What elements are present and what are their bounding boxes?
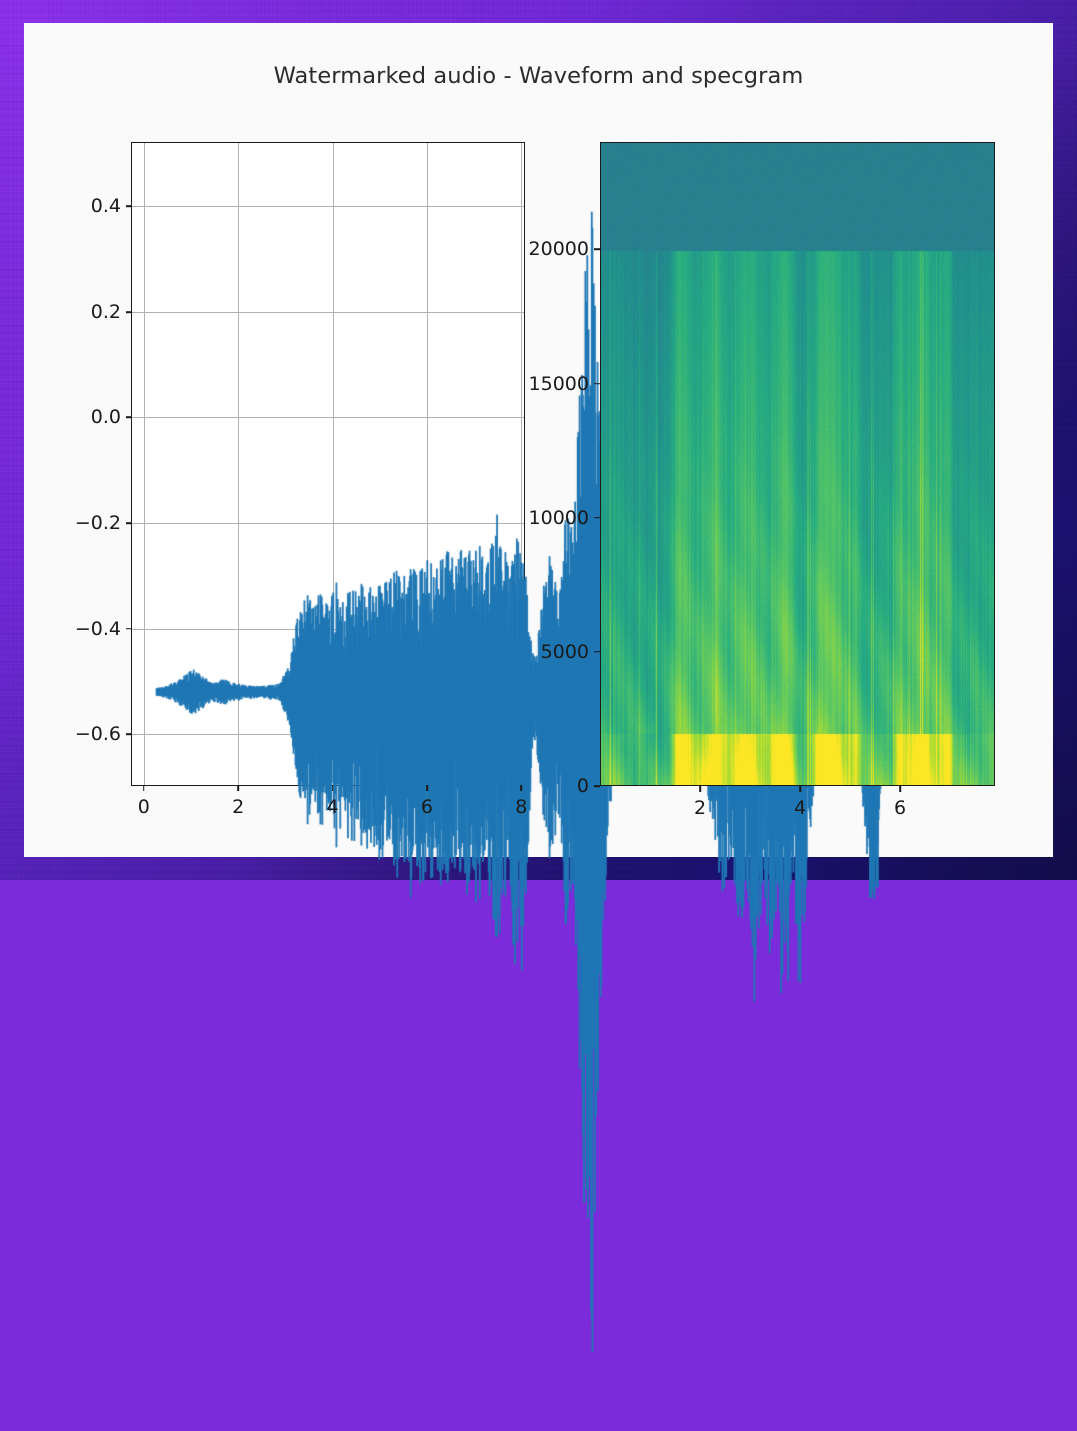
specgram-x-tick-mark xyxy=(699,786,701,792)
specgram-x-axis: 246 xyxy=(600,142,995,786)
specgram-x-tick-label: 2 xyxy=(694,797,706,819)
x-tick-label: 6 xyxy=(421,796,433,818)
y-tick-mark xyxy=(126,522,132,524)
specgram-y-tick-label: 0 xyxy=(577,775,589,797)
x-tick-label: 4 xyxy=(326,796,338,818)
y-tick-label: −0.4 xyxy=(75,618,121,640)
specgram-x-tick-mark xyxy=(799,786,801,792)
x-tick-label: 0 xyxy=(138,796,150,818)
specgram-y-tick-label: 10000 xyxy=(529,507,589,529)
x-tick-label: 2 xyxy=(232,796,244,818)
y-tick-mark xyxy=(126,206,132,208)
x-tick-mark xyxy=(332,785,334,791)
y-tick-label: −0.6 xyxy=(75,723,121,745)
y-tick-mark xyxy=(126,733,132,735)
specgram-y-tick-label: 5000 xyxy=(541,641,589,663)
waveform-axes: 0.40.20.0−0.2−0.4−0.6 02468 xyxy=(131,142,525,786)
y-tick-label: 0.4 xyxy=(91,195,121,217)
x-tick-mark xyxy=(426,785,428,791)
y-tick-mark xyxy=(126,628,132,630)
x-tick-mark xyxy=(520,785,522,791)
matplotlib-figure: Watermarked audio - Waveform and specgra… xyxy=(24,23,1053,857)
page-title: Watermarked audio - Waveform and specgra… xyxy=(24,63,1053,89)
specgram-x-tick-mark xyxy=(899,786,901,792)
y-tick-mark xyxy=(126,311,132,313)
specgram-x-tick-label: 6 xyxy=(894,797,906,819)
specgram-y-tick-label: 20000 xyxy=(529,238,589,260)
specgram-x-tick-label: 4 xyxy=(794,797,806,819)
x-tick-mark xyxy=(143,785,145,791)
specgram-y-tick-label: 15000 xyxy=(529,373,589,395)
x-tick-label: 8 xyxy=(515,796,527,818)
y-tick-label: 0.0 xyxy=(91,406,121,428)
y-tick-label: −0.2 xyxy=(75,512,121,534)
x-tick-mark xyxy=(237,785,239,791)
y-tick-mark xyxy=(126,417,132,419)
y-tick-label: 0.2 xyxy=(91,301,121,323)
